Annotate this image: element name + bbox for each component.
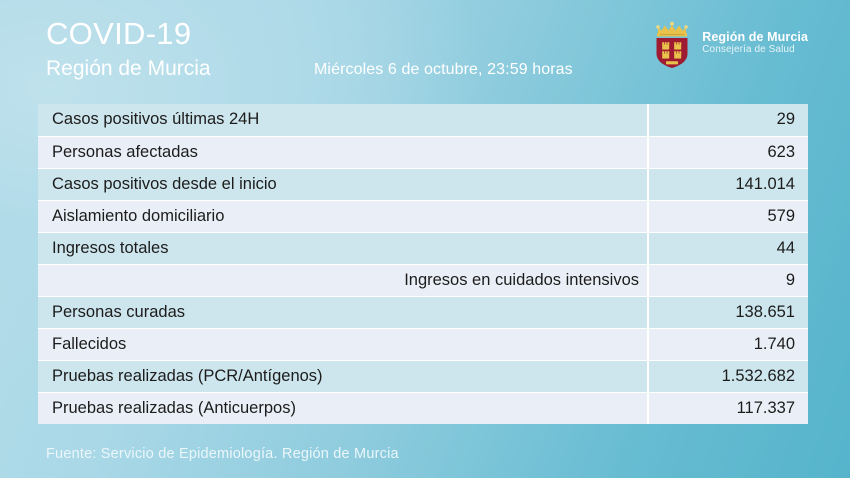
stat-label: Aislamiento domiciliario — [38, 200, 648, 232]
logo-region-name: Región de Murcia — [702, 30, 808, 44]
stat-value: 1.740 — [648, 328, 808, 360]
table-row: Casos positivos desde el inicio141.014 — [38, 168, 808, 200]
stat-label: Casos positivos últimas 24H — [38, 104, 648, 136]
stat-value: 117.337 — [648, 392, 808, 424]
table-row: Aislamiento domiciliario579 — [38, 200, 808, 232]
stat-value: 579 — [648, 200, 808, 232]
covid-stats-infographic: COVID-19 Región de Murcia Miércoles 6 de… — [0, 0, 850, 478]
title-block: COVID-19 Región de Murcia — [46, 18, 211, 79]
stat-value: 623 — [648, 136, 808, 168]
table-row: Pruebas realizadas (Anticuerpos)117.337 — [38, 392, 808, 424]
page-title: COVID-19 — [46, 18, 211, 49]
source-footer: Fuente: Servicio de Epidemiología. Regió… — [46, 446, 399, 462]
table-row: Ingresos totales44 — [38, 232, 808, 264]
stat-label: Pruebas realizadas (PCR/Antígenos) — [38, 360, 648, 392]
murcia-coat-of-arms-icon — [649, 17, 695, 69]
header: COVID-19 Región de Murcia Miércoles 6 de… — [0, 0, 850, 96]
table-row: Casos positivos últimas 24H29 — [38, 104, 808, 136]
stat-label: Personas afectadas — [38, 136, 648, 168]
stats-table-body: Casos positivos últimas 24H29Personas af… — [38, 104, 808, 424]
table-row: Fallecidos1.740 — [38, 328, 808, 360]
table-row: Ingresos en cuidados intensivos9 — [38, 264, 808, 296]
stats-table: Casos positivos últimas 24H29Personas af… — [38, 104, 808, 424]
stat-value: 9 — [648, 264, 808, 296]
region-logo: Región de Murcia Consejería de Salud — [649, 17, 808, 69]
stat-label: Ingresos totales — [38, 232, 648, 264]
logo-department-name: Consejería de Salud — [702, 44, 808, 55]
stat-label: Casos positivos desde el inicio — [38, 168, 648, 200]
logo-text: Región de Murcia Consejería de Salud — [702, 30, 808, 55]
stat-value: 138.651 — [648, 296, 808, 328]
table-row: Personas afectadas623 — [38, 136, 808, 168]
stat-label: Ingresos en cuidados intensivos — [38, 264, 648, 296]
stat-value: 141.014 — [648, 168, 808, 200]
page-subtitle: Región de Murcia — [46, 58, 211, 79]
table-row: Pruebas realizadas (PCR/Antígenos)1.532.… — [38, 360, 808, 392]
stat-label: Personas curadas — [38, 296, 648, 328]
table-row: Personas curadas138.651 — [38, 296, 808, 328]
stat-value: 29 — [648, 104, 808, 136]
stat-label: Fallecidos — [38, 328, 648, 360]
stat-value: 44 — [648, 232, 808, 264]
stat-value: 1.532.682 — [648, 360, 808, 392]
stat-label: Pruebas realizadas (Anticuerpos) — [38, 392, 648, 424]
report-date: Miércoles 6 de octubre, 23:59 horas — [314, 61, 573, 79]
